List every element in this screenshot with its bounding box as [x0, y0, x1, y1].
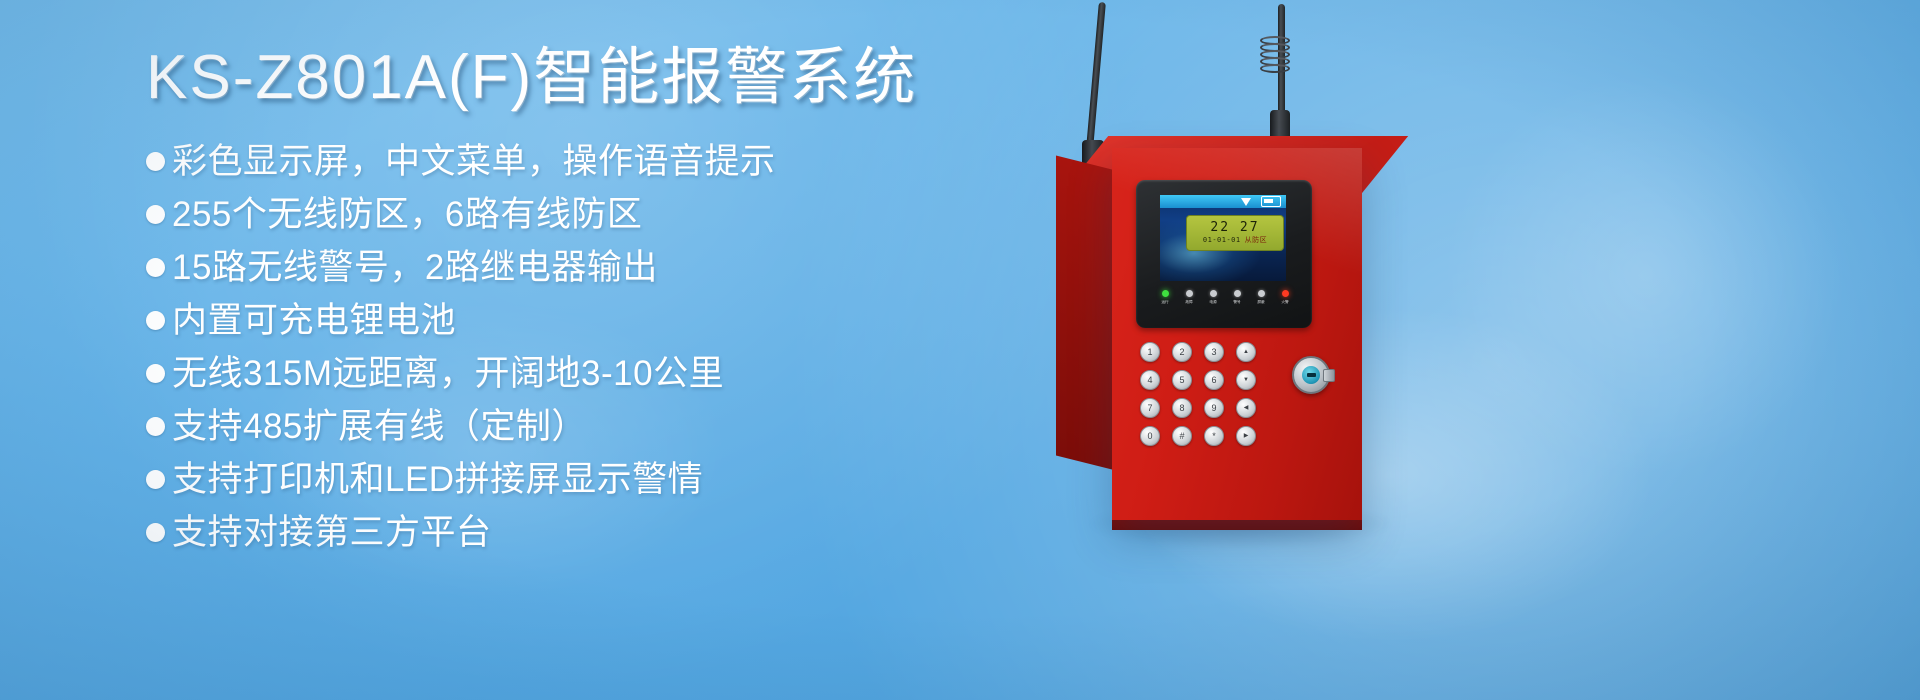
led-indicator-row: 运行 故障 电源 警号 屏蔽 [1154, 290, 1296, 305]
key-2[interactable]: 2 [1172, 342, 1192, 362]
key-1[interactable]: 1 [1140, 342, 1160, 362]
battery-icon [1261, 196, 1281, 207]
led-label: 电源 [1209, 299, 1216, 305]
lcd-time: 22 27 [1210, 221, 1259, 235]
led-indicator: 火警 [1274, 290, 1296, 305]
lcd-date: 01-01-01 [1203, 236, 1241, 244]
key-right[interactable]: ▶ [1236, 426, 1256, 446]
keypad-row: 0 # * ▶ [1140, 426, 1262, 446]
bullet-icon [146, 364, 165, 383]
display-bezel: 22 27 01-01-01从防区 运行 故障 电源 [1136, 180, 1312, 328]
lock-core [1302, 366, 1320, 384]
led-indicator: 故障 [1178, 290, 1200, 305]
key-3[interactable]: 3 [1204, 342, 1224, 362]
led-label: 火警 [1281, 299, 1288, 305]
lock-cylinder-icon[interactable] [1292, 356, 1330, 394]
feature-list: 彩色显示屏，中文菜单，操作语音提示 255个无线防区，6路有线防区 15路无线警… [146, 140, 1046, 555]
key-down[interactable]: ▼ [1236, 370, 1256, 390]
antenna-left-icon [1085, 2, 1106, 160]
led-indicator: 警号 [1226, 290, 1248, 305]
lcd-info-panel: 22 27 01-01-01从防区 [1186, 215, 1284, 251]
banner-text-column: KS-Z801A(F)智能报警系统 彩色显示屏，中文菜单，操作语音提示 255个… [146, 44, 1046, 564]
key-0[interactable]: 0 [1140, 426, 1160, 446]
led-icon [1234, 290, 1241, 297]
led-indicator: 运行 [1154, 290, 1176, 305]
key-left[interactable]: ◀ [1236, 398, 1256, 418]
lcd-status: 从防区 [1245, 236, 1268, 244]
key-6[interactable]: 6 [1204, 370, 1224, 390]
led-icon [1162, 290, 1169, 297]
led-indicator: 屏蔽 [1250, 290, 1272, 305]
led-label: 屏蔽 [1257, 299, 1264, 305]
key-hash[interactable]: # [1172, 426, 1192, 446]
key-8[interactable]: 8 [1172, 398, 1192, 418]
led-icon [1258, 290, 1265, 297]
led-label: 警号 [1233, 299, 1240, 305]
key-star[interactable]: * [1204, 426, 1224, 446]
feature-label: 支持485扩展有线（定制） [172, 405, 587, 449]
bullet-icon [146, 152, 165, 171]
led-indicator: 电源 [1202, 290, 1224, 305]
product-banner: KS-Z801A(F)智能报警系统 彩色显示屏，中文菜单，操作语音提示 255个… [0, 0, 1920, 700]
lcd-status-bar [1160, 195, 1286, 208]
keypad-row: 7 8 9 ◀ [1140, 398, 1262, 418]
antenna-coil [1260, 36, 1286, 76]
feature-label: 15路无线警号，2路继电器输出 [172, 246, 658, 290]
key-7[interactable]: 7 [1140, 398, 1160, 418]
feature-item: 无线315M远距离，开阔地3-10公里 [146, 352, 1046, 396]
lock-keyhole [1307, 373, 1316, 377]
bullet-icon [146, 523, 165, 542]
feature-label: 内置可充电锂电池 [172, 299, 456, 343]
signal-icon [1241, 198, 1251, 206]
key-4[interactable]: 4 [1140, 370, 1160, 390]
bullet-icon [146, 258, 165, 277]
led-label: 故障 [1185, 299, 1192, 305]
product-photo: 22 27 01-01-01从防区 运行 故障 电源 [940, 0, 1920, 700]
bullet-icon [146, 470, 165, 489]
product-title: KS-Z801A(F)智能报警系统 [146, 44, 1046, 112]
lock-tab [1323, 369, 1335, 382]
led-icon [1210, 290, 1217, 297]
key-9[interactable]: 9 [1204, 398, 1224, 418]
feature-item: 255个无线防区，6路有线防区 [146, 193, 1046, 237]
keypad[interactable]: 1 2 3 ▲ 4 5 6 ▼ 7 8 9 ◀ 0 # * ▶ [1140, 342, 1262, 454]
bullet-icon [146, 417, 165, 436]
feature-item: 彩色显示屏，中文菜单，操作语音提示 [146, 140, 1046, 184]
led-label: 运行 [1161, 299, 1168, 305]
key-5[interactable]: 5 [1172, 370, 1192, 390]
feature-label: 255个无线防区，6路有线防区 [172, 193, 642, 237]
feature-label: 支持打印机和LED拼接屏显示警情 [172, 458, 703, 502]
keypad-row: 4 5 6 ▼ [1140, 370, 1262, 390]
key-up[interactable]: ▲ [1236, 342, 1256, 362]
feature-item: 支持485扩展有线（定制） [146, 405, 1046, 449]
led-icon [1282, 290, 1289, 297]
feature-label: 无线315M远距离，开阔地3-10公里 [172, 352, 724, 396]
feature-label: 支持对接第三方平台 [172, 511, 492, 555]
feature-item: 支持打印机和LED拼接屏显示警情 [146, 458, 1046, 502]
lcd-screen: 22 27 01-01-01从防区 [1160, 195, 1286, 281]
led-icon [1186, 290, 1193, 297]
keypad-row: 1 2 3 ▲ [1140, 342, 1262, 362]
feature-label: 彩色显示屏，中文菜单，操作语音提示 [172, 140, 776, 184]
feature-item: 支持对接第三方平台 [146, 511, 1046, 555]
bullet-icon [146, 205, 165, 224]
lcd-date-row: 01-01-01从防区 [1203, 235, 1267, 245]
bullet-icon [146, 311, 165, 330]
feature-item: 内置可充电锂电池 [146, 299, 1046, 343]
feature-item: 15路无线警号，2路继电器输出 [146, 246, 1046, 290]
